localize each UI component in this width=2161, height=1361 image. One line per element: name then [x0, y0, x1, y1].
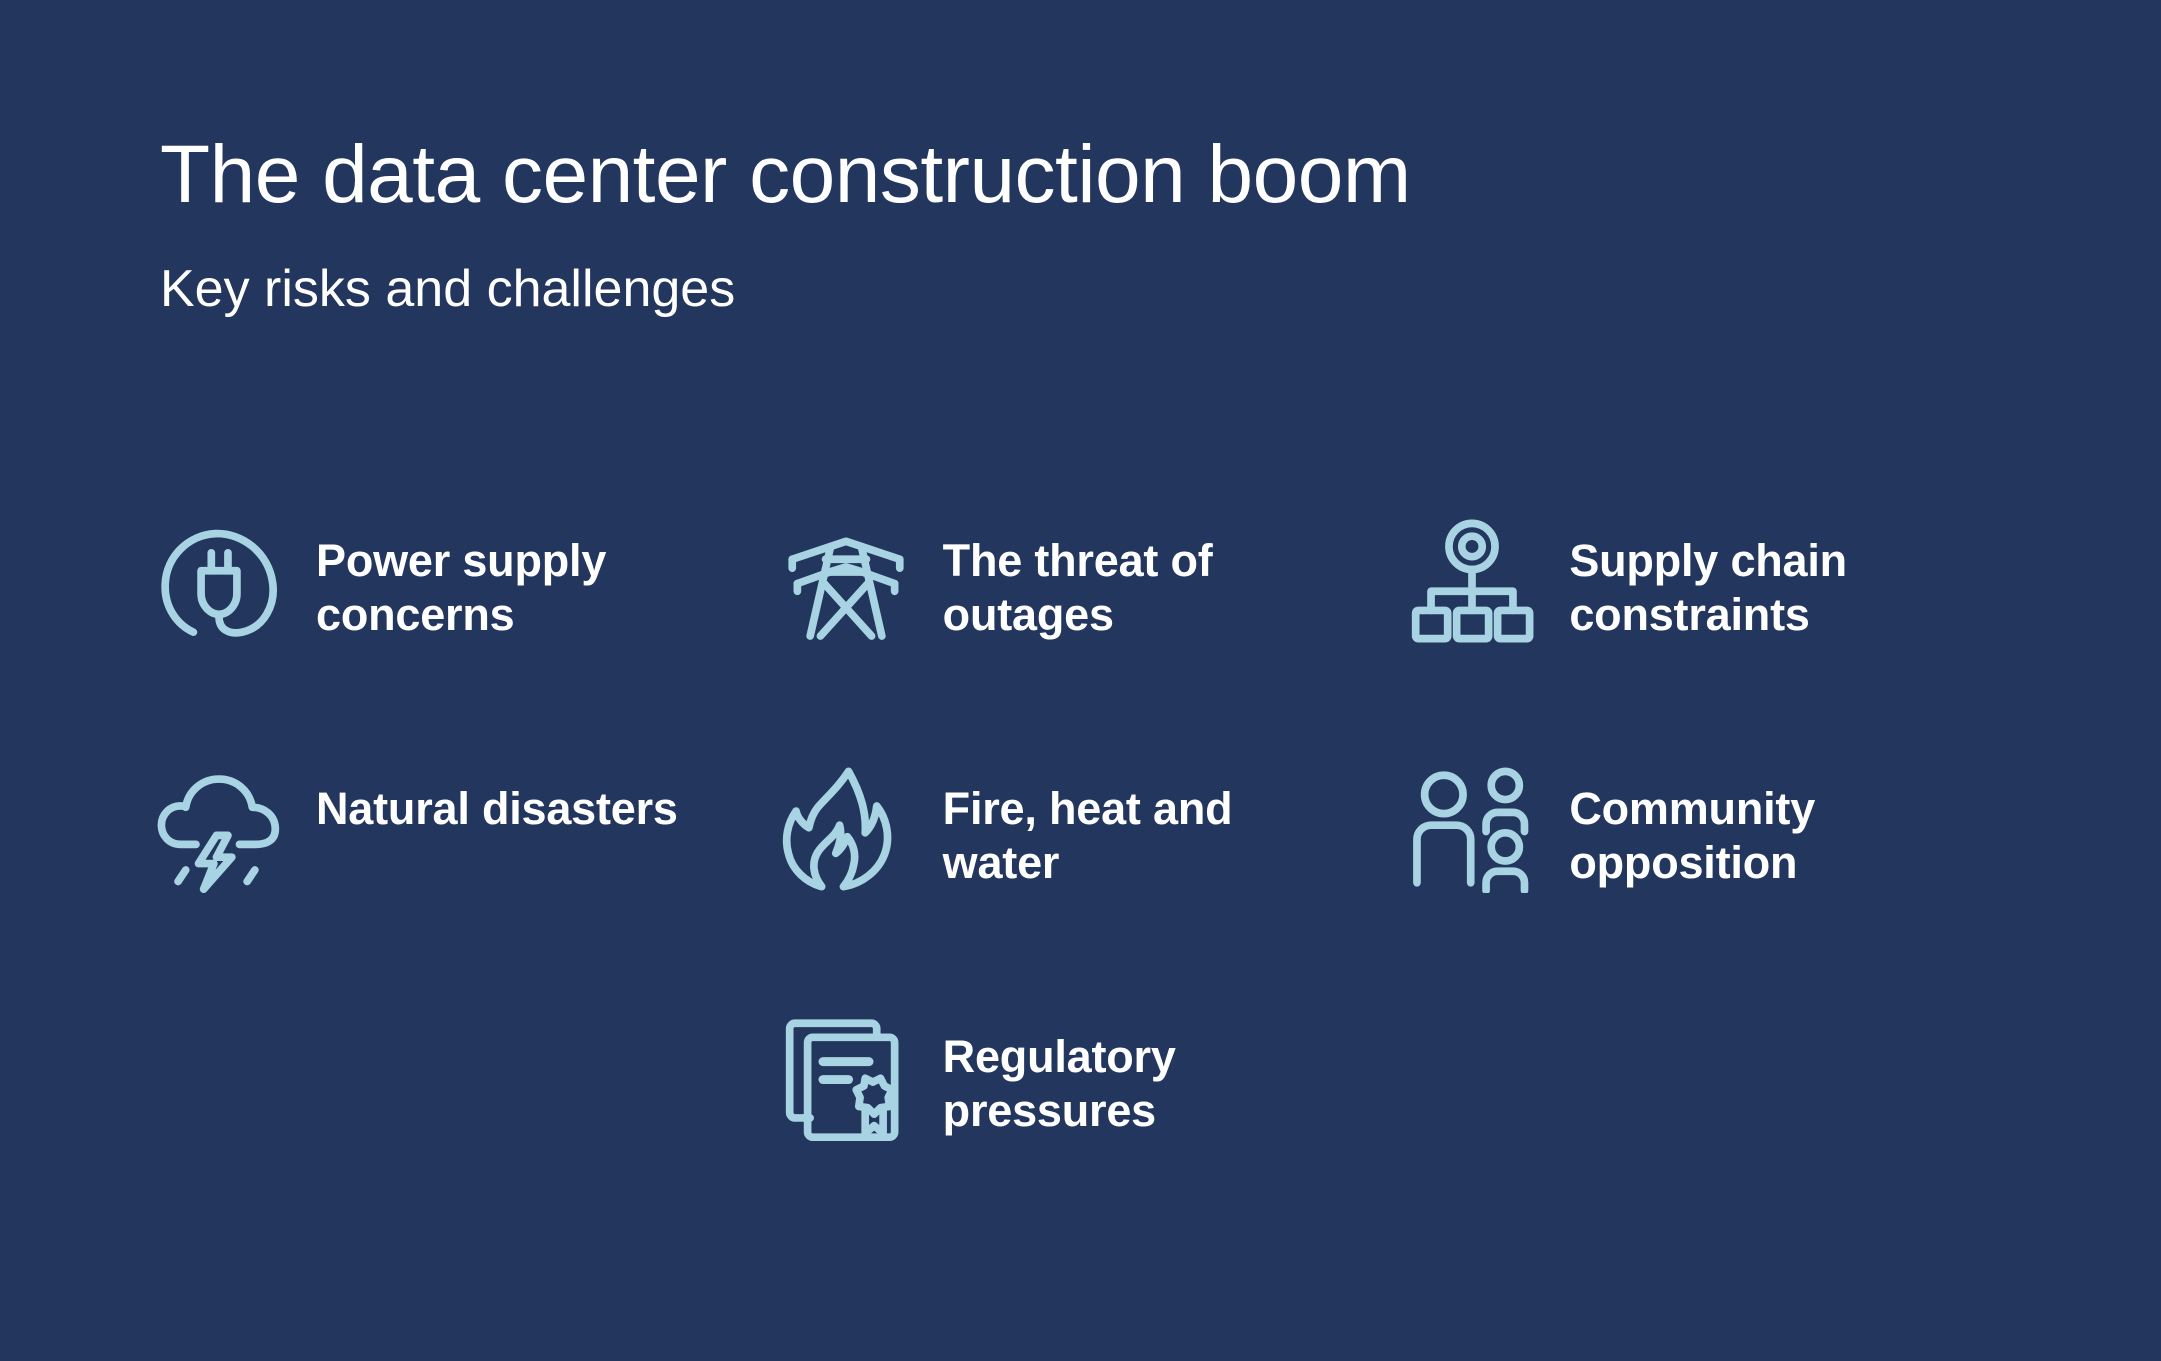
risk-item-regulatory-pressures: Regulatory pressures	[777, 1008, 1404, 1256]
supply-chain-hierarchy-icon	[1403, 512, 1541, 650]
risk-label: Regulatory pressures	[943, 1008, 1343, 1137]
page-subtitle: Key risks and challenges	[160, 219, 2020, 318]
power-plug-icon	[150, 512, 288, 650]
risk-label: Power supply concerns	[316, 512, 716, 641]
transmission-tower-icon	[777, 512, 915, 650]
risk-grid: Power supply concerns	[150, 512, 2030, 1256]
risk-label: The threat of outages	[943, 512, 1343, 641]
risk-label: Supply chain constraints	[1569, 512, 1969, 641]
risk-item-supply-chain: Supply chain constraints	[1403, 512, 2030, 760]
risk-item-threat-of-outages: The threat of outages	[777, 512, 1404, 760]
flame-icon	[777, 760, 915, 898]
risk-item-power-supply: Power supply concerns	[150, 512, 777, 760]
risk-item-natural-disasters: Natural disasters	[150, 760, 777, 1008]
storm-cloud-lightning-icon	[150, 760, 288, 898]
risk-item-fire-heat-water: Fire, heat and water	[777, 760, 1404, 1008]
slide-root: The data center construction boom Key ri…	[0, 0, 2161, 1361]
risk-label: Fire, heat and water	[943, 760, 1343, 889]
risk-label: Natural disasters	[316, 760, 678, 836]
slide-header: The data center construction boom Key ri…	[160, 132, 2020, 318]
page-title: The data center construction boom	[160, 132, 2020, 219]
risk-label: Community opposition	[1569, 760, 1969, 889]
people-group-icon	[1403, 760, 1541, 898]
risk-item-community-opposition: Community opposition	[1403, 760, 2030, 1008]
certificate-document-icon	[777, 1008, 915, 1146]
